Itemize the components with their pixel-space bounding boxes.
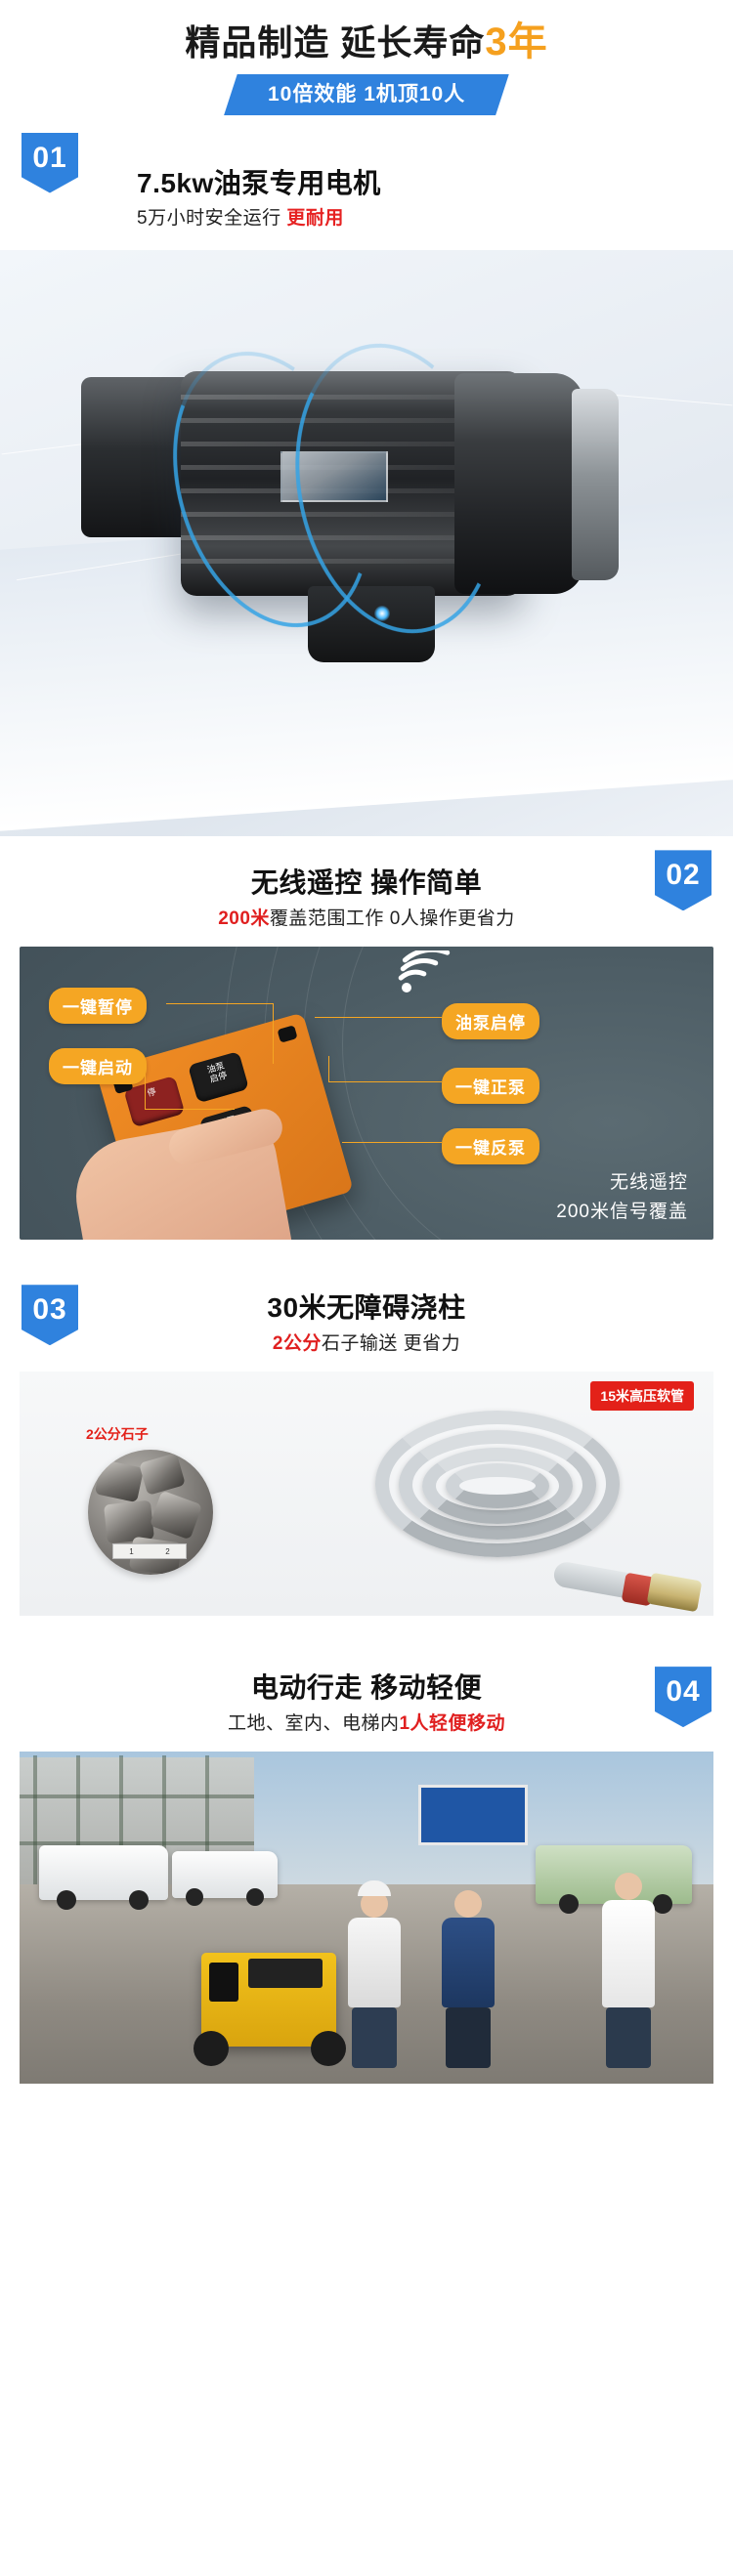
scaffold-rail [20,1795,254,1798]
callout-leader-line [328,1081,442,1082]
hero-banner-label: 10倍效能 1机顶10人 [268,79,465,110]
page-title-main: 精品制造 延长寿命 [185,22,485,63]
remote-button-pump-toggle[interactable]: 油泵启停 [188,1051,249,1103]
section-02-sub-red: 200米 [218,908,270,929]
section-02-note-line1: 无线遥控 [556,1168,688,1197]
section-03-sub-red: 2公分 [273,1333,322,1354]
section-01-sub-red: 更耐用 [286,208,344,229]
callout-forward-pump: 一键正泵 [442,1068,539,1104]
section-01-subtitle: 5万小时安全运行 更耐用 [137,205,733,233]
worksite-photo [20,1752,713,2084]
section-04-badge-label: 04 [666,1675,700,1709]
worker-in-blue [442,1890,495,2068]
remote-control-photo: 停 油泵启停 动 正泵启停 备用 备用 一键暂停 一键启动 [20,947,713,1240]
section-02-sub-plain: 覆盖范围工作 0人操作更省力 [270,908,515,929]
section-01: 01 7.5kw油泵专用电机 5万小时安全运行 更耐用 [0,115,733,837]
section-02-note: 无线遥控 200米信号覆盖 [556,1168,688,1226]
callout-leader-line [342,1142,442,1143]
hero-banner-wrap: 10倍效能 1机顶10人 [0,74,733,115]
worker-with-helmet [348,1880,401,2068]
hose-coupler-brass [647,1573,703,1613]
section-04-subtitle: 工地、室内、电梯内1人轻便移动 [0,1710,733,1739]
section-01-title: 7.5kw油泵专用电机 [137,166,733,201]
gravel-ruler: 1 2 [112,1543,187,1559]
led-glow [374,606,390,621]
section-04-sub-red: 1人轻便移动 [399,1713,505,1734]
section-02-note-line2: 200米信号覆盖 [556,1198,688,1226]
section-01-badge: 01 [22,133,78,193]
section-02-badge: 02 [655,850,711,910]
callout-leader-line [145,1064,146,1109]
callout-leader-line [145,1109,235,1110]
truck-wheel [559,1894,579,1914]
section-03-head: 03 30米无障碍浇柱 2公分石子输送 更省力 [0,1240,733,1372]
worker-in-white [602,1873,655,2068]
callout-start: 一键启动 [49,1048,147,1084]
section-01-sub-plain: 5万小时安全运行 [137,208,286,229]
section-03-title: 30米无障碍浇柱 [0,1290,733,1326]
callout-pump-toggle: 油泵启停 [442,1003,539,1039]
bottom-spacer [0,2084,733,2109]
page-title-accent: 3年 [485,21,547,63]
car-wheel [246,1888,264,1906]
section-03: 03 30米无障碍浇柱 2公分石子输送 更省力 15米高压软管 2公分石子 [0,1240,733,1616]
section-04-image [0,1752,733,2084]
hero-header: 精品制造 延长寿命3年 10倍效能 1机顶10人 [0,0,733,115]
motor-end-cap [572,389,619,580]
van-wheel [129,1890,149,1910]
callout-leader-line [166,1003,274,1004]
car-wheel [186,1888,203,1906]
section-01-head: 01 7.5kw油泵专用电机 5万小时安全运行 更耐用 [0,115,733,251]
section-03-badge-label: 03 [32,1293,66,1327]
hose-coil [356,1405,678,1590]
page-title: 精品制造 延长寿命3年 [0,18,733,66]
section-02: 02 无线遥控 操作简单 200米覆盖范围工作 0人操作更省力 [0,836,733,1240]
callout-leader-line [315,1017,442,1018]
section-02-image: 停 油泵启停 动 正泵启停 备用 备用 一键暂停 一键启动 [0,947,733,1240]
callout-pause: 一键暂停 [49,988,147,1024]
site-sign [418,1785,528,1845]
product-detail-page: 精品制造 延长寿命3年 10倍效能 1机顶10人 01 7.5kw油泵专用电机 … [0,0,733,2109]
callout-leader-line [273,1003,274,1064]
section-04-head: 04 电动行走 移动轻便 工地、室内、电梯内1人轻便移动 [0,1616,733,1752]
callout-reverse-pump: 一键反泵 [442,1128,539,1164]
section-02-head: 02 无线遥控 操作简单 200米覆盖范围工作 0人操作更省力 [0,836,733,947]
van-wheel [57,1890,76,1910]
section-04-title: 电动行走 移动轻便 [0,1670,733,1706]
section-04-sub-plain: 工地、室内、电梯内 [228,1713,400,1734]
hose-and-gravel-photo: 15米高压软管 2公分石子 1 2 [20,1372,713,1616]
wifi-signal-icon [397,950,452,993]
hero-banner: 10倍效能 1机顶10人 [224,74,509,115]
section-02-subtitle: 200米覆盖范围工作 0人操作更省力 [0,906,733,934]
ruler-mark-2: 2 [165,1547,169,1556]
section-02-title: 无线遥控 操作简单 [0,866,733,901]
label-gravel-size: 2公分石子 [86,1424,149,1444]
white-van [39,1845,168,1900]
section-03-sub-plain: 石子输送 更省力 [322,1333,460,1354]
section-01-badge-label: 01 [32,142,66,175]
truck-wheel [653,1894,672,1914]
section-03-subtitle: 2公分石子输送 更省力 [0,1330,733,1359]
section-01-image [0,250,733,836]
motor-photo [0,250,733,836]
callout-leader-line [328,1056,329,1081]
electric-walking-machine [201,1953,336,2047]
scaffold-pole [33,1755,37,1884]
motor-assembly [64,313,669,703]
section-02-badge-label: 02 [666,859,700,892]
section-03-image: 15米高压软管 2公分石子 1 2 [0,1372,733,1616]
section-04: 04 电动行走 移动轻便 工地、室内、电梯内1人轻便移动 [0,1616,733,2109]
ruler-mark-1: 1 [129,1547,133,1556]
